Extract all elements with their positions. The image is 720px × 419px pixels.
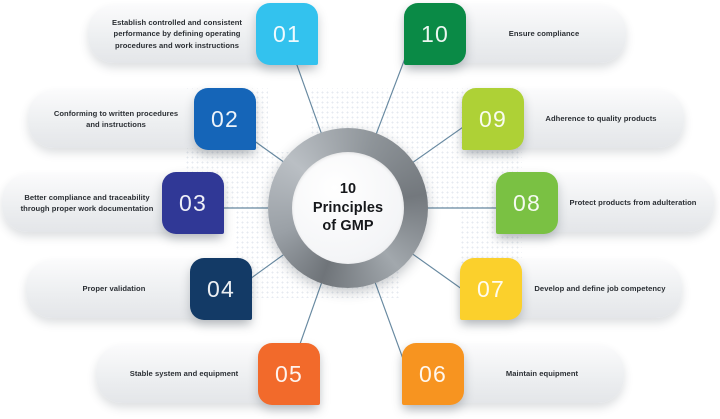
principle-number: 08 <box>513 190 541 217</box>
principle-description: Conforming to written procedures and ins… <box>40 90 192 148</box>
principle-number: 02 <box>211 106 239 133</box>
principle-badge-04[interactable]: 04 <box>190 258 252 320</box>
center-hub-inner: 10 Principles of GMP <box>292 152 404 264</box>
principle-badge-06[interactable]: 06 <box>402 343 464 405</box>
principle-description: Develop and define job competency <box>524 260 676 318</box>
principle-badge-07[interactable]: 07 <box>460 258 522 320</box>
principle-description: Maintain equipment <box>466 345 618 403</box>
principle-number: 07 <box>477 276 505 303</box>
principle-description: Proper validation <box>40 260 188 318</box>
principle-description: Stable system and equipment <box>110 345 258 403</box>
principle-number: 04 <box>207 276 235 303</box>
principle-badge-09[interactable]: 09 <box>462 88 524 150</box>
principle-badge-05[interactable]: 05 <box>258 343 320 405</box>
principle-badge-03[interactable]: 03 <box>162 172 224 234</box>
hub-line-3: of GMP <box>313 217 383 236</box>
principle-number: 09 <box>479 106 507 133</box>
principle-description: Establish controlled and consistent perf… <box>102 5 252 63</box>
principle-number: 06 <box>419 361 447 388</box>
center-hub-ring: 10 Principles of GMP <box>268 128 428 288</box>
principle-badge-02[interactable]: 02 <box>194 88 256 150</box>
hub-line-2: Principles <box>313 199 383 218</box>
principle-description: Adherence to quality products <box>526 90 676 148</box>
principle-number: 10 <box>421 21 449 48</box>
map-mask <box>150 60 580 88</box>
principle-badge-10[interactable]: 10 <box>404 3 466 65</box>
principle-badge-08[interactable]: 08 <box>496 172 558 234</box>
principle-number: 05 <box>275 361 303 388</box>
center-hub-title: 10 Principles of GMP <box>313 180 383 236</box>
infographic-canvas: 10 Principles of GMP Establish controlle… <box>0 0 720 419</box>
principle-badge-01[interactable]: 01 <box>256 3 318 65</box>
hub-line-1: 10 <box>313 180 383 199</box>
principle-number: 01 <box>273 21 301 48</box>
principle-description: Protect products from adulteration <box>558 174 708 232</box>
principle-description: Ensure compliance <box>468 5 620 63</box>
principle-description: Better compliance and traceability throu… <box>12 174 162 232</box>
principle-number: 03 <box>179 190 207 217</box>
